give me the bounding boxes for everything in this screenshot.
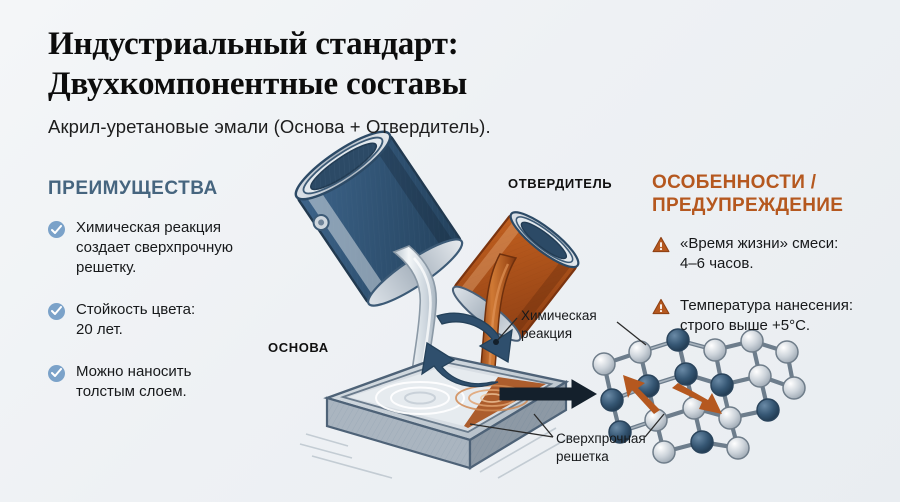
label-base: ОСНОВА xyxy=(268,340,329,355)
mixing-tray xyxy=(300,356,572,478)
benefits-heading: ПРЕИМУЩЕСТВА xyxy=(48,178,284,200)
check-circle-icon xyxy=(48,365,65,382)
annotation-chemical-reaction: Химическая реакция xyxy=(521,307,597,342)
warning-item: «Время жизни» смеси: 4–6 часов. xyxy=(652,234,892,274)
benefit-text: Стойкость цвета: 20 лет. xyxy=(76,300,195,340)
benefit-item: Стойкость цвета: 20 лет. xyxy=(48,300,284,340)
label-hardener: ОТВЕРДИТЕЛЬ xyxy=(508,176,612,191)
check-circle-icon xyxy=(48,221,65,238)
warning-text: «Время жизни» смеси: 4–6 часов. xyxy=(680,234,838,274)
warnings-panel: ОСОБЕННОСТИ / ПРЕДУПРЕЖДЕНИЕ «Время жизн… xyxy=(652,172,892,336)
warning-triangle-icon xyxy=(652,236,670,254)
page-title: Индустриальный стандарт: Двухкомпонентны… xyxy=(48,24,668,105)
check-circle-icon xyxy=(48,303,65,320)
benefit-item: Химическая реакция создает сверхпрочную … xyxy=(48,218,284,278)
benefit-item: Можно наносить толстым слоем. xyxy=(48,362,284,402)
benefit-text: Можно наносить толстым слоем. xyxy=(76,362,191,402)
warning-item: Температура нанесения: строго выше +5°C. xyxy=(652,296,892,336)
page-subtitle: Акрил-уретановые эмали (Основа + Отверди… xyxy=(48,116,491,138)
warning-text: Температура нанесения: строго выше +5°C. xyxy=(680,296,853,336)
benefits-panel: ПРЕИМУЩЕСТВА Химическая реакция создает … xyxy=(48,178,284,402)
benefit-text: Химическая реакция создает сверхпрочную … xyxy=(76,218,233,278)
warning-triangle-icon xyxy=(652,298,670,316)
infographic-page: Индустриальный стандарт: Двухкомпонентны… xyxy=(0,0,900,502)
annotation-lattice: Сверхпрочная решетка xyxy=(556,430,646,465)
paint-can-base xyxy=(287,122,469,316)
warnings-heading: ОСОБЕННОСТИ / ПРЕДУПРЕЖДЕНИЕ xyxy=(652,172,892,218)
